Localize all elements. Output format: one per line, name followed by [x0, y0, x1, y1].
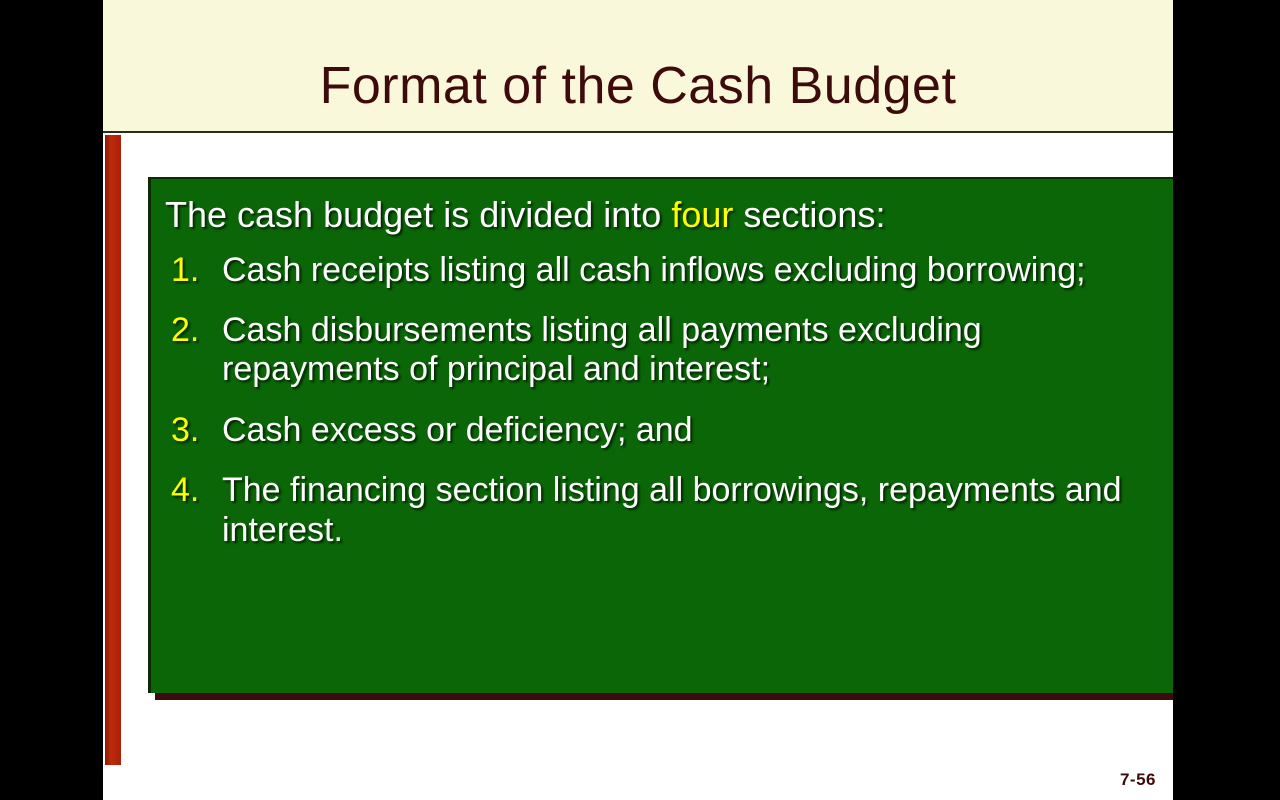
left-accent-bar [105, 135, 121, 765]
list-item: 4. The financing section listing all bor… [165, 471, 1168, 550]
list-item: 2. Cash disbursements listing all paymen… [165, 311, 1168, 390]
lead-sentence: The cash budget is divided into four sec… [165, 195, 1168, 235]
lead-text-before: The cash budget is divided into [165, 194, 671, 235]
lead-text-after: sections: [733, 194, 885, 235]
presentation-screen: Format of the Cash Budget The cash budge… [0, 0, 1280, 800]
page-title: Format of the Cash Budget [103, 60, 1173, 112]
content-panel: The cash budget is divided into four sec… [148, 177, 1173, 693]
list-item-label: Cash receipts listing all cash inflows e… [222, 251, 1168, 290]
content-panel-inner: The cash budget is divided into four sec… [151, 179, 1173, 693]
list-item: 1. Cash receipts listing all cash inflow… [165, 251, 1168, 290]
list-item-label: Cash disbursements listing all payments … [222, 311, 1168, 390]
slide-number-badge: 7-56 [1120, 770, 1156, 790]
list-item: 3. Cash excess or deficiency; and [165, 411, 1168, 450]
list-item-number: 1. [171, 251, 215, 290]
list-item-label: The financing section listing all borrow… [222, 471, 1168, 550]
list-item-number: 3. [171, 411, 215, 450]
list-item-number: 2. [171, 311, 215, 350]
slide-title-band: Format of the Cash Budget [103, 0, 1173, 133]
list-item-label: Cash excess or deficiency; and [222, 411, 1168, 450]
slide-canvas: Format of the Cash Budget The cash budge… [103, 0, 1173, 800]
list-item-number: 4. [171, 471, 215, 510]
lead-highlight-word: four [671, 194, 733, 235]
sections-list: 1. Cash receipts listing all cash inflow… [165, 251, 1168, 551]
